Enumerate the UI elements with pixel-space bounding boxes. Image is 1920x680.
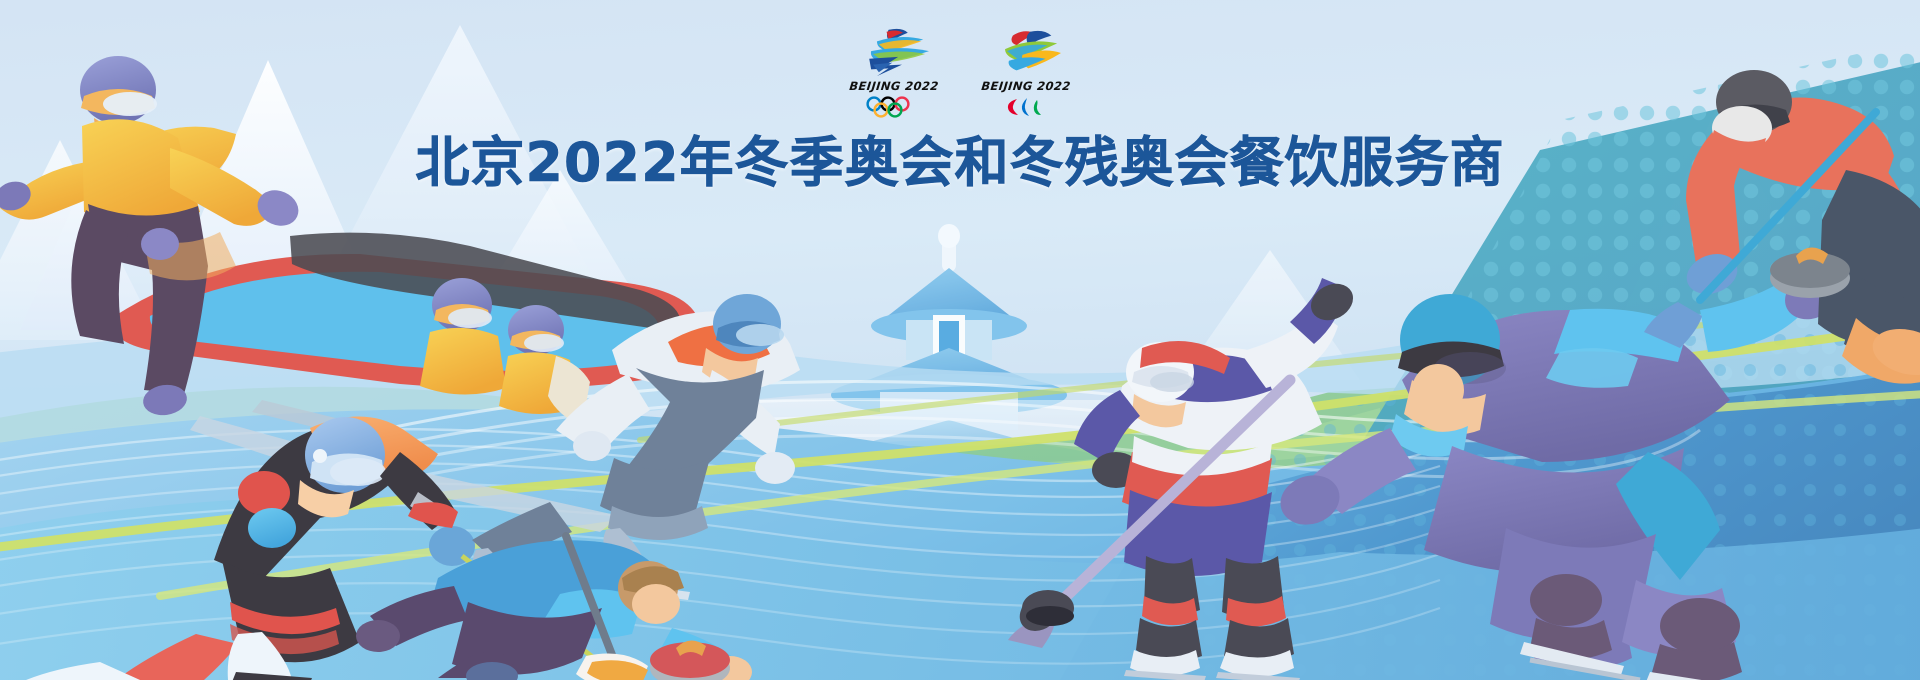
olympic-wordmark: BEIJING 2022 <box>845 81 942 93</box>
flying-high-emblem-icon <box>980 26 1073 80</box>
paralympic-agitos-icon <box>1003 96 1049 118</box>
olympic-emblem-block: BEIJING 2022 <box>846 26 942 118</box>
athlete-curler-sweeping <box>356 536 752 680</box>
beijing-2022-catering-banner: BEIJING 2022 BEIJING 20 <box>0 0 1920 680</box>
olympic-rings-icon <box>863 96 925 118</box>
paralympic-emblem-block: BEIJING 2022 <box>978 26 1074 118</box>
athlete-speed-skater-right <box>1274 264 1847 680</box>
paralympic-wordmark: BEIJING 2022 <box>977 81 1074 93</box>
winter-dream-emblem-icon <box>848 26 941 80</box>
athlete-curler-delivering <box>1644 70 1920 384</box>
event-emblems: BEIJING 2022 BEIJING 20 <box>846 26 1074 118</box>
